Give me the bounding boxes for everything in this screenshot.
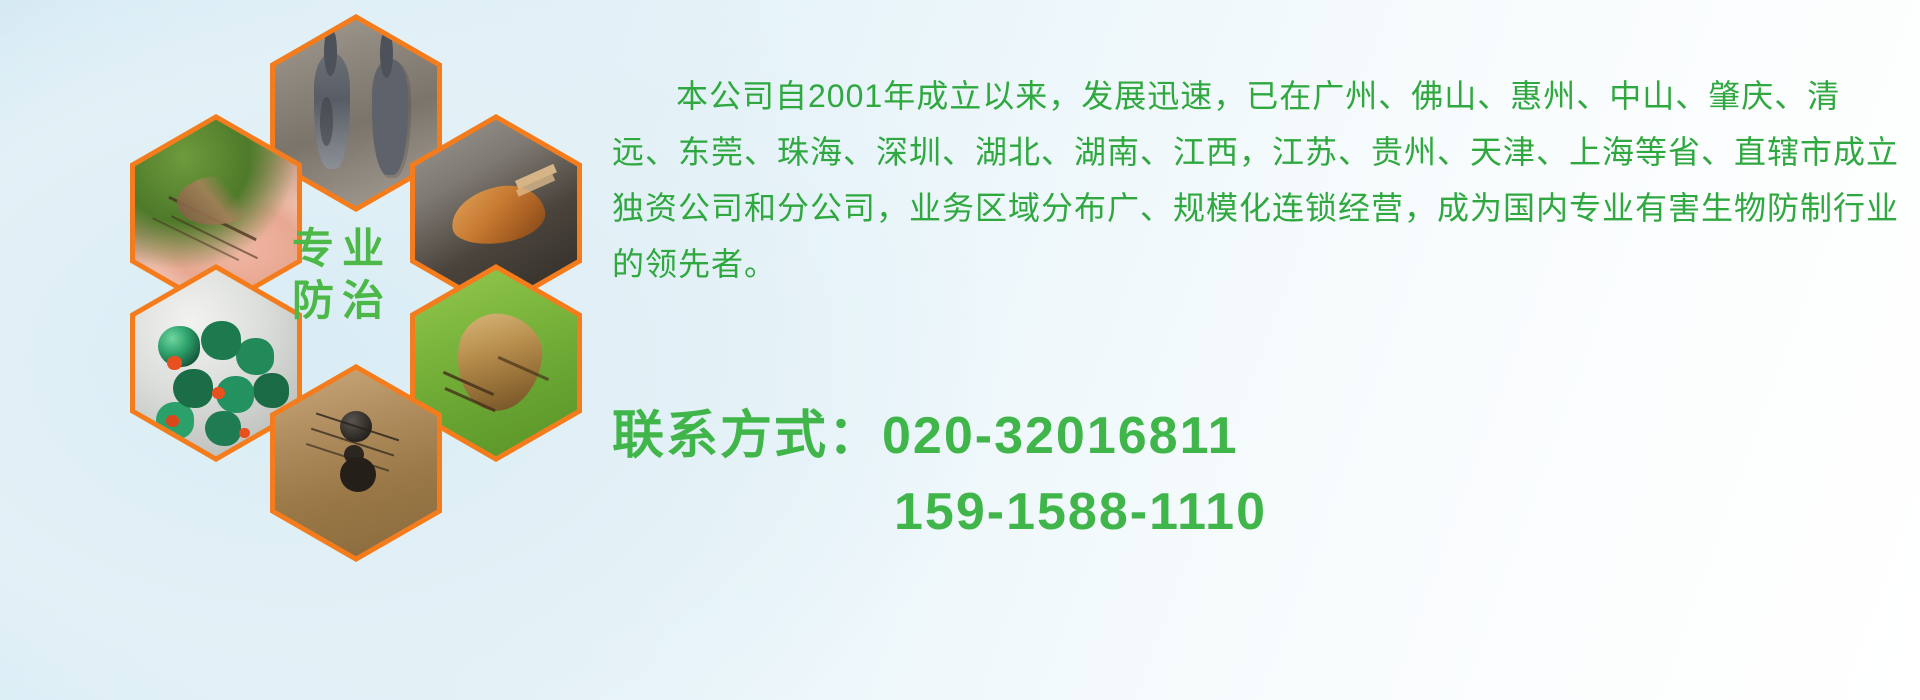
contact-line-primary[interactable]: 联系方式：020-32016811 xyxy=(612,398,1902,474)
contact-line-secondary[interactable]: 159-1588-1110 xyxy=(612,474,1902,550)
logo-slogan-line-1: 专业 xyxy=(284,228,392,270)
about-copy-block: 本公司自2001年成立以来，发展迅速，已在广州、佛山、惠州、中山、肇庆、清远、东… xyxy=(612,36,1902,324)
promo-banner: 专业 防治 本公司自2001年成立以来，发展迅速，已在广州、佛山、惠州、中山、肇… xyxy=(0,0,1920,700)
hex-ant-inner xyxy=(275,370,437,557)
logo-slogan: 专业 防治 xyxy=(252,176,424,374)
logo-slogan-line-2: 防治 xyxy=(284,280,392,322)
hexagon-photo-cluster: 专业 防治 xyxy=(88,14,588,566)
contact-block: 联系方式：020-32016811 159-1588-1110 xyxy=(612,398,1902,550)
ant-photo xyxy=(275,370,437,557)
about-paragraph: 本公司自2001年成立以来，发展迅速，已在广州、佛山、惠州、中山、肇庆、清远、东… xyxy=(612,68,1902,292)
